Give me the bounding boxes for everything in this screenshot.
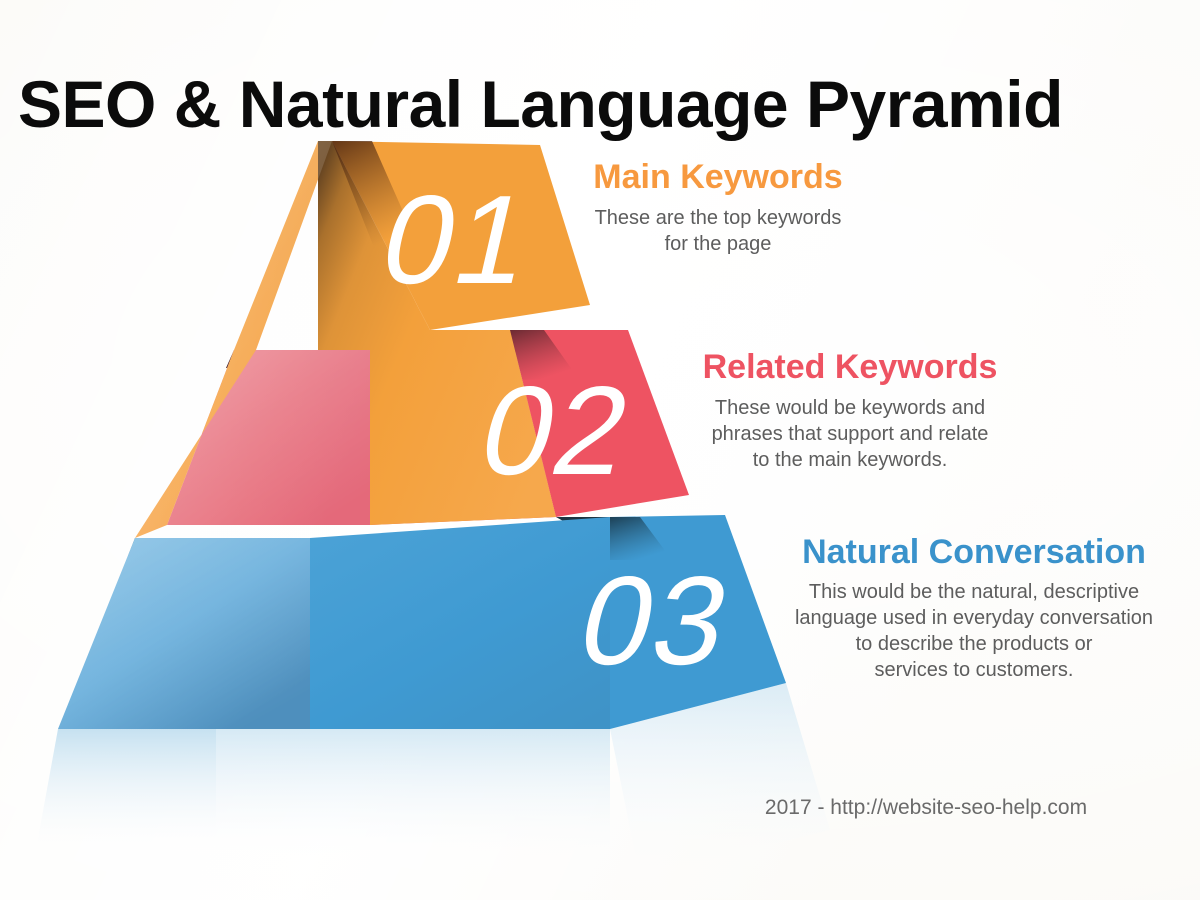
level-2-heading: Related Keywords: [650, 350, 1050, 386]
level-2-body-line: phrases that support and relate: [650, 421, 1050, 447]
level-3-face-right: [310, 517, 610, 729]
level-2-body: These would be keywords and phrases that…: [650, 395, 1050, 473]
level-1-body-line: for the page: [548, 231, 888, 257]
level-2-body-line: to the main keywords.: [650, 447, 1050, 473]
level-2-sheen: [167, 350, 370, 525]
level-1-heading: Main Keywords: [548, 160, 888, 196]
level-3-text-block: Natural Conversation This would be the n…: [748, 535, 1200, 683]
infographic-page: SEO & Natural Language Pyramid: [0, 0, 1200, 900]
level-3-body-line: This would be the natural, descriptive: [748, 579, 1200, 605]
level-3-reflection-left: [35, 729, 216, 855]
level-1-body-line: These are the top keywords: [548, 205, 888, 231]
level-2-text-block: Related Keywords These would be keywords…: [650, 350, 1050, 473]
footer-credit: 2017 - http://website-seo-help.com: [700, 796, 1152, 820]
level-2-body-line: These would be keywords and: [650, 395, 1050, 421]
level-3-body-line: services to customers.: [748, 657, 1200, 683]
level-3-body-line: to describe the products or: [748, 631, 1200, 657]
level-3-body-line: language used in everyday conversation: [748, 605, 1200, 631]
level-1-text-block: Main Keywords These are the top keywords…: [548, 160, 888, 257]
level-3-heading: Natural Conversation: [748, 535, 1200, 571]
level-3-sheen: [58, 538, 310, 729]
level-3-reflection-right: [216, 729, 610, 860]
level-3-body: This would be the natural, descriptive l…: [748, 579, 1200, 683]
level-1-body: These are the top keywords for the page: [548, 205, 888, 257]
